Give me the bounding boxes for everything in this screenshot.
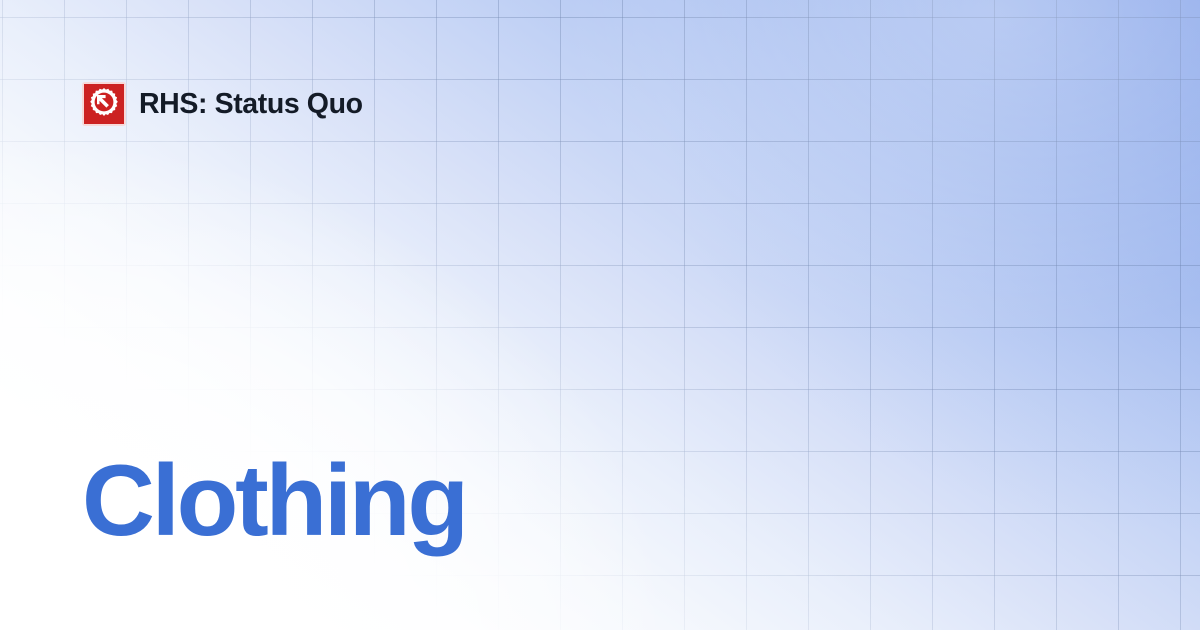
page-title: Clothing	[82, 448, 466, 554]
brand-header: RHS: Status Quo	[82, 82, 363, 126]
gear-hammer-logo-icon	[82, 82, 126, 126]
brand-name: RHS: Status Quo	[139, 90, 363, 119]
og-card: RHS: Status Quo Clothing	[0, 0, 1200, 630]
card-content: RHS: Status Quo Clothing	[0, 0, 1200, 630]
